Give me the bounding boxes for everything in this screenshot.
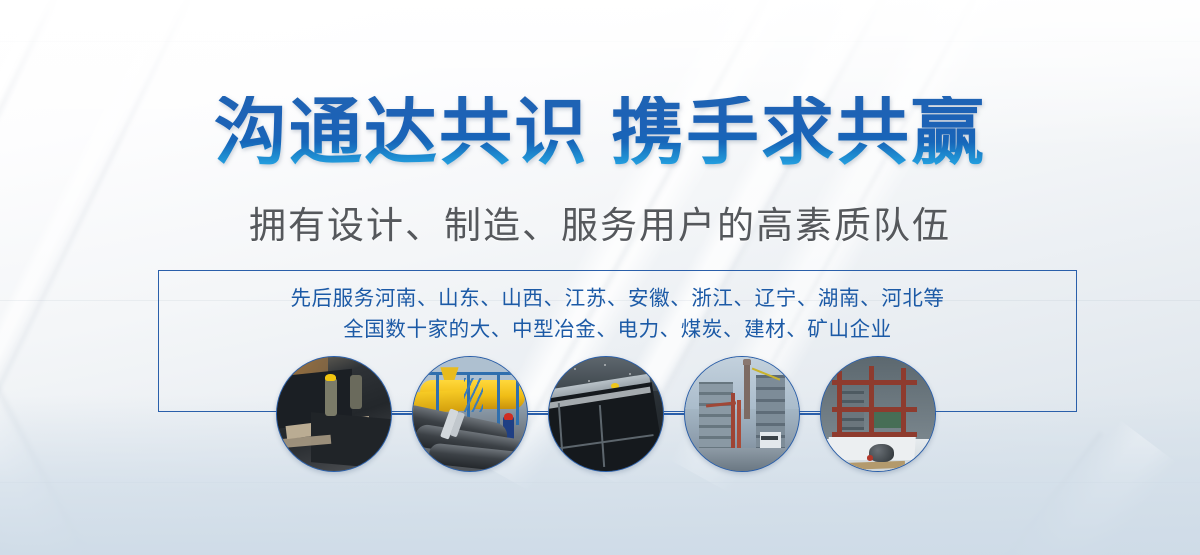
photo-steel-frame-construction[interactable] <box>684 356 800 472</box>
light-streak <box>915 420 1176 555</box>
photo-image <box>821 357 935 471</box>
light-streak <box>0 0 64 517</box>
photo-detail <box>761 436 778 441</box>
photo-image <box>277 357 391 471</box>
photo-detail <box>497 373 500 425</box>
photo-detail <box>869 366 874 441</box>
photo-detail <box>744 362 750 419</box>
promo-banner: 沟通达共识携手求共赢 拥有设计、制造、服务用户的高素质队伍 先后服务河南、山东、… <box>0 0 1200 555</box>
photo-detail <box>832 407 916 412</box>
headline: 沟通达共识携手求共赢 <box>0 96 1200 169</box>
photo-detail <box>588 380 590 382</box>
photo-detail <box>350 375 363 409</box>
photo-detail <box>427 372 520 375</box>
photo-detail <box>743 359 751 365</box>
photo-detail <box>832 380 916 385</box>
photo-detail <box>604 364 606 366</box>
photo-detail <box>699 382 733 450</box>
photo-dark-steel-hopper[interactable] <box>548 356 664 472</box>
photo-detail <box>760 432 781 448</box>
photo-detail <box>325 378 338 417</box>
photo-yellow-rotary-dryer[interactable] <box>412 356 528 472</box>
facet-shade <box>0 0 68 504</box>
description-text: 先后服务河南、山东、山西、江苏、安徽、浙江、辽宁、湖南、河北等 全国数十家的大、… <box>158 283 1077 345</box>
photo-detail <box>737 400 740 448</box>
photo-detail <box>325 374 335 381</box>
facet-shade <box>0 325 167 555</box>
seam-line <box>0 482 1200 483</box>
photo-image <box>549 357 663 471</box>
photo-detail <box>873 409 903 427</box>
seam-line <box>0 41 1200 42</box>
light-streak <box>0 258 145 555</box>
photo-image <box>413 357 527 471</box>
photo-circle-strip <box>276 356 936 472</box>
subtitle: 拥有设计、制造、服务用户的高素质队伍 <box>0 203 1200 249</box>
photo-factory-interior[interactable] <box>820 356 936 472</box>
photo-image <box>685 357 799 471</box>
description-line-2: 全国数十家的大、中型冶金、电力、煤炭、建材、矿山企业 <box>158 314 1077 345</box>
photo-detail <box>464 378 482 412</box>
photo-detail <box>867 455 874 461</box>
headline-part-1: 沟通达共识 <box>214 92 589 173</box>
description-line-1: 先后服务河南、山东、山西、江苏、安徽、浙江、辽宁、湖南、河北等 <box>158 283 1077 314</box>
photo-detail <box>504 413 513 420</box>
headline-part-2: 携手求共赢 <box>611 92 986 173</box>
photo-detail <box>685 448 799 471</box>
photo-steel-plate-welding[interactable] <box>276 356 392 472</box>
photo-detail <box>629 373 631 375</box>
photo-detail <box>516 373 519 425</box>
